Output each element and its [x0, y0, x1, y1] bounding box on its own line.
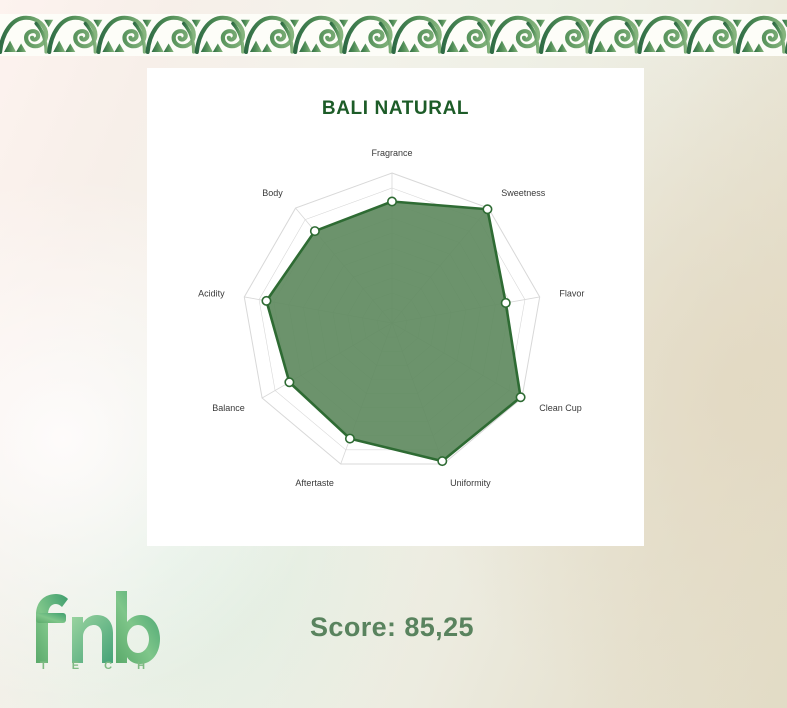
radar-data-point[interactable] [516, 393, 524, 401]
score-text: Score: 85,25 [310, 612, 474, 643]
radar-data-point[interactable] [483, 205, 491, 213]
radar-chart-svg: FragranceSweetnessFlavorClean CupUniform… [147, 68, 644, 546]
radar-axis-label: Balance [212, 403, 245, 413]
chart-card: BALI NATURAL FragranceSweetnessFlavorCle… [147, 68, 644, 546]
radar-series-polygon [266, 202, 520, 462]
radar-chart: FragranceSweetnessFlavorClean CupUniform… [147, 68, 644, 546]
radar-data-point[interactable] [388, 197, 396, 205]
decorative-border-band [0, 14, 787, 56]
radar-series-area [266, 202, 520, 462]
radar-data-point[interactable] [438, 457, 446, 465]
radar-data-point[interactable] [311, 227, 319, 235]
radar-axis-label: Uniformity [450, 478, 491, 488]
spiral-pattern-svg [0, 14, 787, 56]
radar-data-point[interactable] [502, 299, 510, 307]
logo-subtext: T E C H [40, 660, 156, 672]
radar-axis-label: Fragrance [371, 148, 412, 158]
radar-data-point[interactable] [285, 378, 293, 386]
radar-axis-label: Body [262, 188, 283, 198]
radar-axis-label: Aftertaste [295, 478, 334, 488]
radar-axis-label: Sweetness [501, 188, 546, 198]
radar-axis-label: Clean Cup [539, 403, 582, 413]
radar-data-point[interactable] [262, 297, 270, 305]
radar-data-point[interactable] [346, 434, 354, 442]
radar-axis-label: Flavor [559, 288, 584, 298]
radar-axis-label: Acidity [198, 288, 225, 298]
